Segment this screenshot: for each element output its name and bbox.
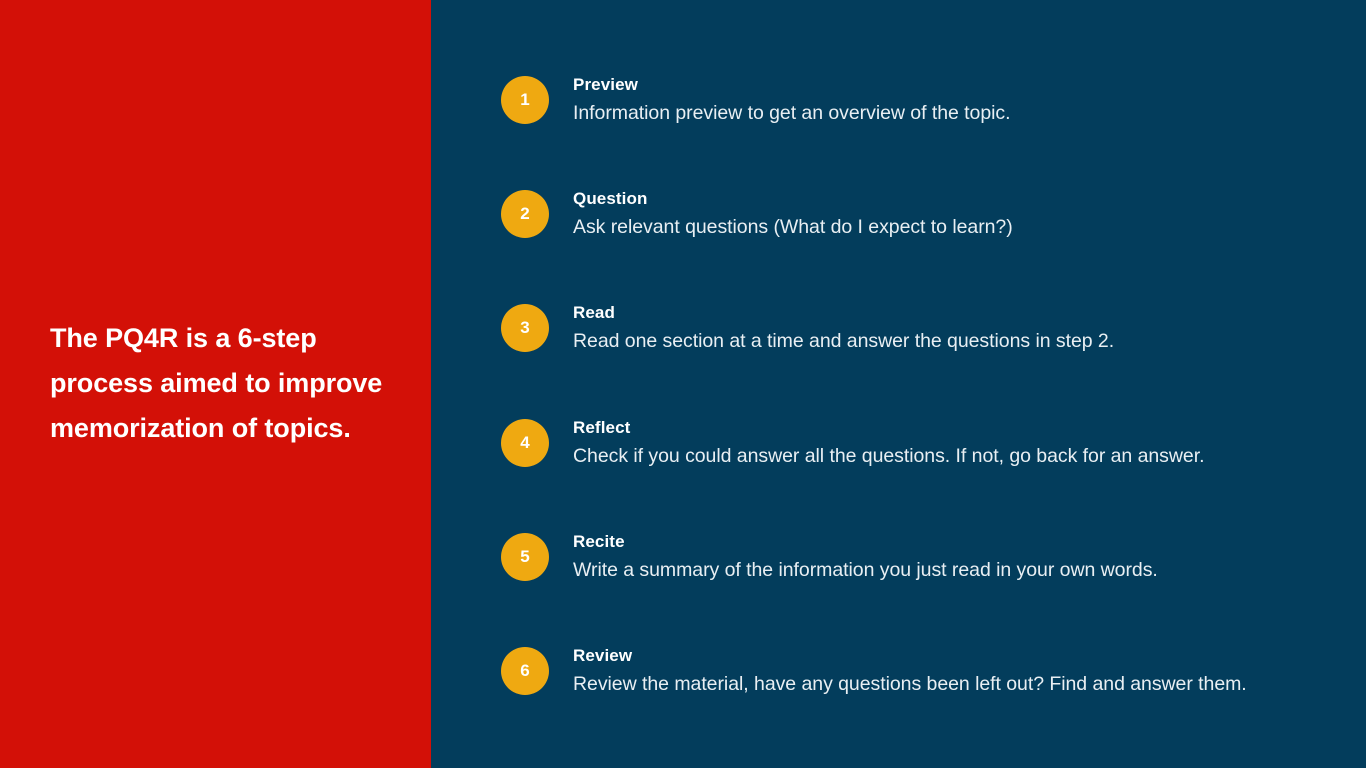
step-text-block: Question Ask relevant questions (What do… [573,188,1341,239]
step-description: Write a summary of the information you j… [573,558,1341,582]
step-item-3: 3 Read Read one section at a time and an… [501,302,1341,416]
step-number-label: 5 [520,547,529,567]
step-number-badge: 4 [501,419,549,467]
step-number-badge: 2 [501,190,549,238]
step-number-label: 1 [520,90,529,110]
step-title: Reflect [573,417,1341,439]
step-title: Read [573,302,1341,324]
step-number-label: 6 [520,661,529,681]
steps-list: 1 Preview Information preview to get an … [501,74,1341,759]
step-number-label: 2 [520,204,529,224]
step-item-1: 1 Preview Information preview to get an … [501,74,1341,188]
step-description: Read one section at a time and answer th… [573,329,1341,353]
step-text-block: Preview Information preview to get an ov… [573,74,1341,125]
step-description: Review the material, have any questions … [573,672,1341,696]
step-description: Information preview to get an overview o… [573,101,1341,125]
step-item-2: 2 Question Ask relevant questions (What … [501,188,1341,302]
step-item-6: 6 Review Review the material, have any q… [501,645,1341,759]
step-title: Preview [573,74,1341,96]
step-title: Recite [573,531,1341,553]
step-number-label: 3 [520,318,529,338]
step-item-4: 4 Reflect Check if you could answer all … [501,417,1341,531]
right-navy-panel: 1 Preview Information preview to get an … [431,0,1366,768]
step-text-block: Read Read one section at a time and answ… [573,302,1341,353]
step-number-badge: 1 [501,76,549,124]
step-number-badge: 6 [501,647,549,695]
step-item-5: 5 Recite Write a summary of the informat… [501,531,1341,645]
step-title: Review [573,645,1341,667]
step-number-label: 4 [520,433,529,453]
step-number-badge: 3 [501,304,549,352]
step-number-badge: 5 [501,533,549,581]
step-description: Ask relevant questions (What do I expect… [573,215,1341,239]
page-title: The PQ4R is a 6-step process aimed to im… [50,316,422,451]
step-text-block: Reflect Check if you could answer all th… [573,417,1341,468]
slide-canvas: The PQ4R is a 6-step process aimed to im… [0,0,1366,768]
step-text-block: Recite Write a summary of the informatio… [573,531,1341,582]
step-text-block: Review Review the material, have any que… [573,645,1341,696]
step-title: Question [573,188,1341,210]
step-description: Check if you could answer all the questi… [573,444,1341,468]
left-red-panel: The PQ4R is a 6-step process aimed to im… [0,0,431,768]
